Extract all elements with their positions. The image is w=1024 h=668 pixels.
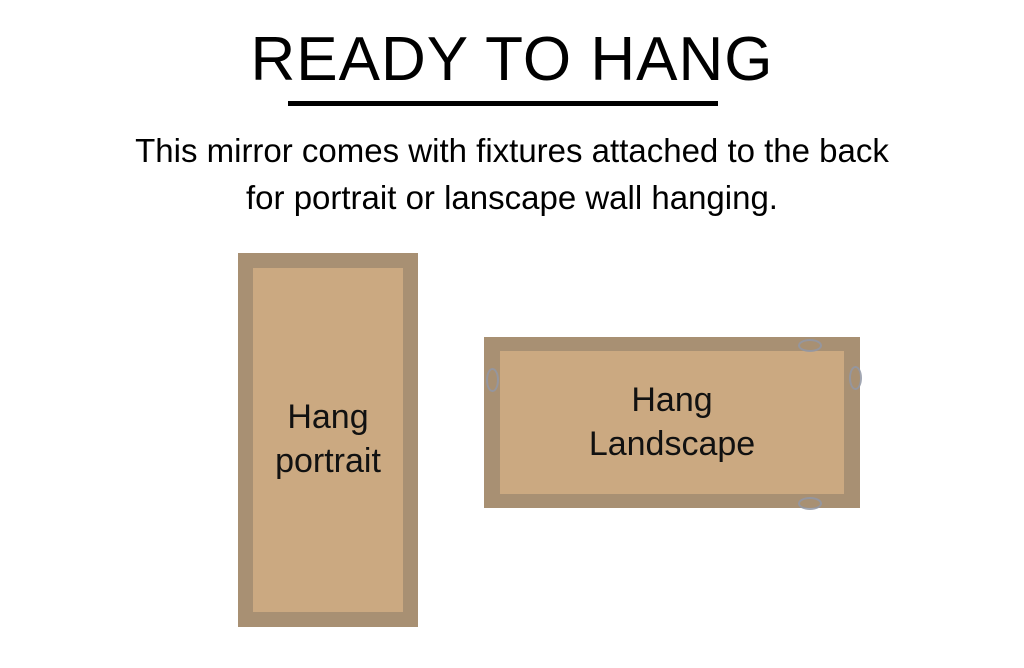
- d-ring-hanger-icon-right-middle: [849, 366, 862, 390]
- landscape-mirror-frame: Hang Landscape: [484, 337, 860, 508]
- d-ring-hanger-icon-left-middle: [486, 368, 499, 392]
- title-underline-rule: [288, 101, 718, 106]
- d-ring-hanger-icon-bottom-right: [798, 497, 822, 510]
- landscape-mirror-panel: Hang Landscape: [500, 351, 844, 494]
- d-ring-hanger-icon-top-right: [798, 339, 822, 352]
- landscape-frame-label: Hang Landscape: [589, 379, 755, 466]
- description-text: This mirror comes with fixtures attached…: [112, 128, 912, 222]
- portrait-mirror-panel: Hang portrait: [253, 268, 403, 612]
- portrait-mirror-frame: Hang portrait: [238, 253, 418, 627]
- page-title: READY TO HANG: [0, 26, 1024, 94]
- product-info-graphic: READY TO HANG This mirror comes with fix…: [0, 0, 1024, 668]
- portrait-frame-label: Hang portrait: [275, 396, 381, 483]
